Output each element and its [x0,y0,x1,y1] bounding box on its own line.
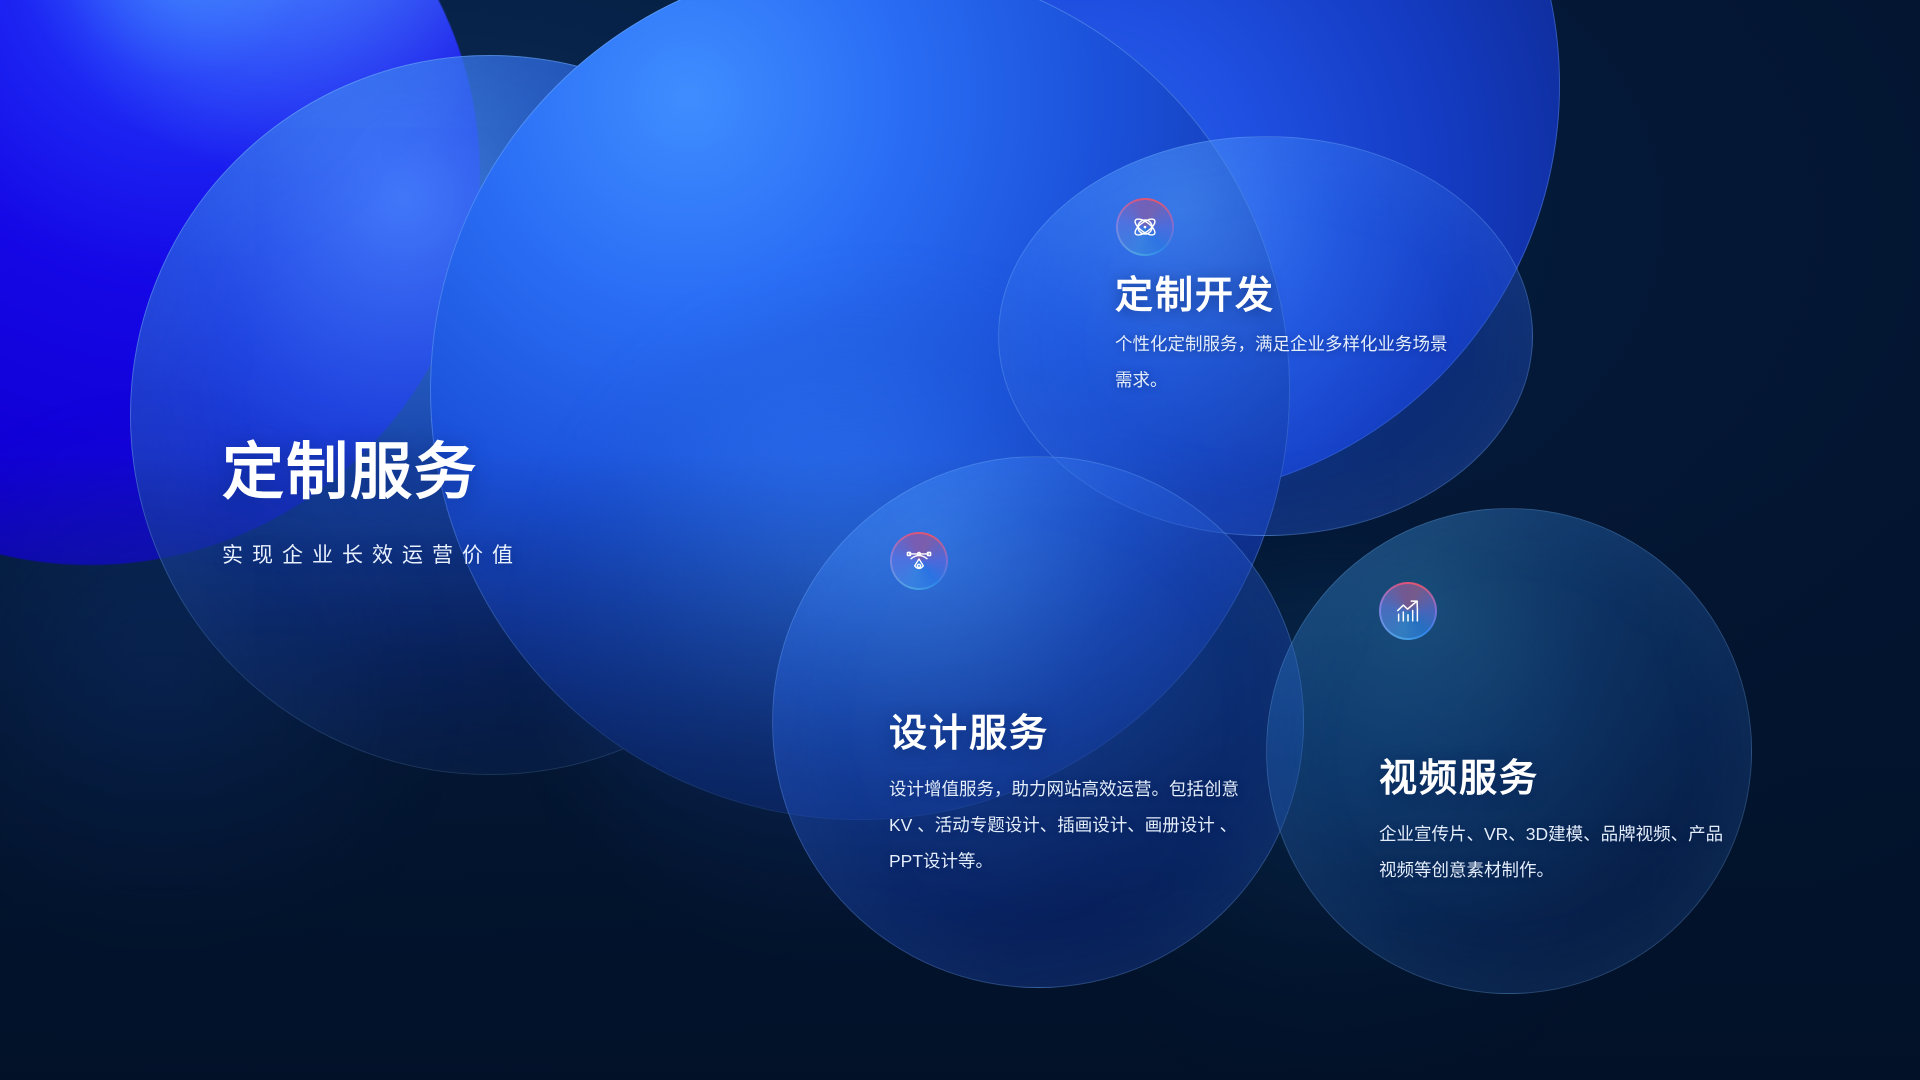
hero-section: 定制服务 实现企业长效运营价值 定制开发 [0,0,1920,1080]
service-card-body: 设计服务 设计增值服务，助力网站高效运营。包括创意KV 、活动专题设计、插画设计… [773,457,1303,987]
service-card-description: 企业宣传片、VR、3D建模、品牌视频、产品视频等创意素材制作。 [1379,817,1729,889]
service-card-description: 设计增值服务，助力网站高效运营。包括创意KV 、活动专题设计、插画设计、画册设计… [889,772,1259,880]
service-card-title: 设计服务 [889,702,1049,757]
service-card-description: 个性化定制服务，满足企业多样化业务场景需求。 [1115,327,1455,399]
pen-nib-glyph [904,546,934,576]
service-card-video-service[interactable]: 视频服务 企业宣传片、VR、3D建模、品牌视频、产品视频等创意素材制作。 [1266,508,1752,994]
service-card-title: 定制开发 [1115,264,1275,319]
service-card-body: 视频服务 企业宣传片、VR、3D建模、品牌视频、产品视频等创意素材制作。 [1267,509,1751,993]
atom-orbit-glyph [1130,212,1160,242]
growth-chart-icon [1379,582,1437,640]
service-card-title: 视频服务 [1379,747,1539,802]
headline-block: 定制服务 实现企业长效运营价值 [222,440,782,569]
growth-chart-glyph [1393,596,1423,626]
pen-nib-icon [890,532,948,590]
service-card-design-service[interactable]: 设计服务 设计增值服务，助力网站高效运营。包括创意KV 、活动专题设计、插画设计… [772,456,1304,988]
atom-orbit-icon [1116,198,1174,256]
page-subtitle: 实现企业长效运营价值 [222,539,782,569]
page-title: 定制服务 [222,440,782,507]
